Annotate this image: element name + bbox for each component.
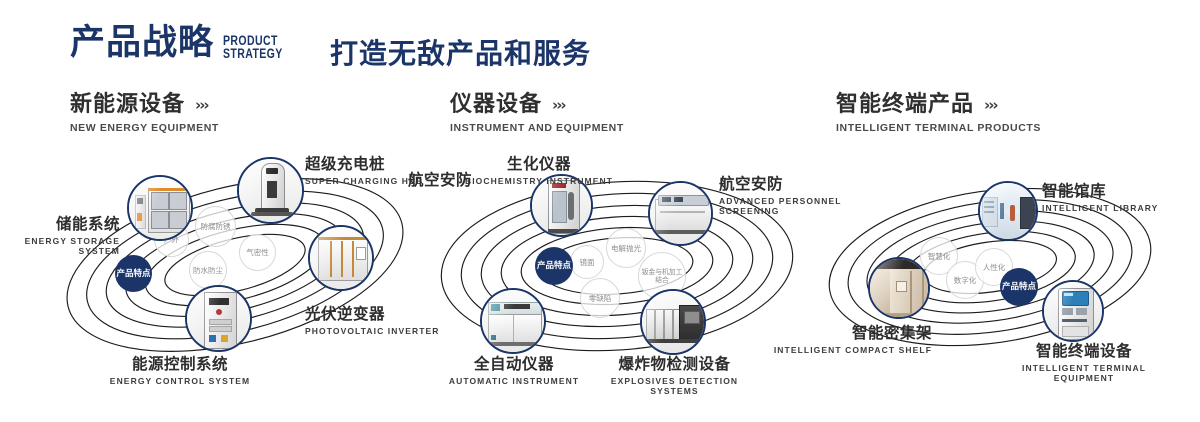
core-badge-product-features: 产品特点 <box>535 247 573 285</box>
node-explosives-detection-systems[interactable] <box>640 289 706 355</box>
section-heading-new-energy: 新能源设备 ››› NEW ENERGY EQUIPMENT <box>70 93 219 134</box>
node-automatic-instrument[interactable] <box>480 288 546 354</box>
node-intelligent-terminal-equipment[interactable] <box>1042 280 1104 342</box>
section-heading-cn: 仪器设备 ››› <box>450 93 624 117</box>
section-heading-en: INSTRUMENT AND EQUIPMENT <box>450 122 624 134</box>
node-label-automatic-instrument: 全自动仪器 AUTOMATIC INSTRUMENT <box>424 356 604 386</box>
node-label-energy-storage-system: 储能系统 ENERGY STORAGE SYSTEM <box>0 216 120 256</box>
section-heading-instrument: 仪器设备 ››› INSTRUMENT AND EQUIPMENT <box>450 93 624 134</box>
automatic-instrument-icon <box>482 290 544 352</box>
compact-shelf-icon <box>870 259 928 317</box>
screening-machine-icon <box>650 183 711 244</box>
node-advanced-personnel-screening[interactable] <box>648 181 713 246</box>
feature-bubble: 零缺陷 <box>580 278 620 318</box>
core-badge-product-features: 产品特点 <box>115 255 152 292</box>
section-heading-intelligent-terminal: 智能终端产品 ››› INTELLIGENT TERMINAL PRODUCTS <box>836 93 1041 134</box>
energy-storage-cabinet-icon <box>129 177 191 239</box>
node-label-explosives-detection-systems: 爆炸物检测设备 EXPLOSIVES DETECTION SYSTEMS <box>587 356 762 396</box>
page-title-en: PRODUCT STRATEGY <box>223 34 283 60</box>
node-photovoltaic-inverter[interactable] <box>308 225 374 291</box>
pv-inverter-cabinet-icon <box>310 227 372 289</box>
control-cabinet-icon <box>187 287 250 350</box>
library-interior-icon <box>980 183 1036 239</box>
node-label-aviation-security-overlap: 航空安防 <box>408 172 503 190</box>
section-heading-cn: 智能终端产品 ››› <box>836 93 1041 117</box>
node-intelligent-compact-shelf[interactable] <box>868 257 930 319</box>
product-strategy-infographic: 产品战略 PRODUCT STRATEGY 打造无敌产品和服务 新能源设备 ››… <box>0 0 1200 422</box>
section-heading-en: INTELLIGENT TERMINAL PRODUCTS <box>836 122 1041 134</box>
node-label-intelligent-compact-shelf: 智能密集架 INTELLIGENT COMPACT SHELF <box>760 325 932 355</box>
section-heading-cn: 新能源设备 ››› <box>70 93 219 117</box>
page-subtitle: 打造无敌产品和服务 <box>330 32 591 72</box>
explosives-detector-icon <box>642 291 704 353</box>
page-title-en-line2: STRATEGY <box>223 47 283 60</box>
chevron-right-icon: ››› <box>984 97 997 114</box>
section-heading-en: NEW ENERGY EQUIPMENT <box>70 122 219 134</box>
node-energy-control-system[interactable] <box>185 285 252 352</box>
node-label-energy-control-system: 能源控制系统 ENERGY CONTROL SYSTEM <box>85 356 275 386</box>
feature-bubble: 气密性 <box>239 234 276 271</box>
node-label-intelligent-library: 智能馆库 INTELLIGENT LIBRARY <box>1042 183 1187 213</box>
charging-pile-icon <box>239 159 302 222</box>
feature-bubble: 防水防尘 <box>189 251 227 289</box>
orbit-diagram-new-energy: 户外 防腐防锈 防水防尘 气密性 产品特点 储能系统 ENERGY STORAG… <box>55 160 415 370</box>
node-energy-storage-system[interactable] <box>127 175 193 241</box>
self-service-kiosk-icon <box>1044 282 1102 340</box>
orbit-diagram-intelligent-terminal: 智慧化 数字化 人性化 产品特点 智能馆库 INTELLIGENT LIBRAR… <box>820 165 1160 370</box>
page-title-cn: 产品战略 <box>70 26 214 61</box>
node-super-charging-hub[interactable] <box>237 157 304 224</box>
feature-bubble: 电解抛光 <box>606 228 646 268</box>
chevron-right-icon: ››› <box>195 97 208 114</box>
page-title: 产品战略 PRODUCT STRATEGY <box>70 26 300 61</box>
orbit-diagram-instrument: 镜面 电解抛光 钣金与机加工结合 零缺陷 产品特点 生化仪器 BIOCHEMIS… <box>432 160 802 372</box>
node-intelligent-library[interactable] <box>978 181 1038 241</box>
node-label-intelligent-terminal-equipment: 智能终端设备 INTELLIGENT TERMINAL EQUIPMENT <box>993 343 1175 383</box>
core-badge-product-features: 产品特点 <box>1000 268 1038 306</box>
feature-bubble: 镜面 <box>570 245 604 279</box>
chevron-right-icon: ››› <box>552 97 565 114</box>
feature-bubble: 防腐防锈 <box>195 206 236 247</box>
